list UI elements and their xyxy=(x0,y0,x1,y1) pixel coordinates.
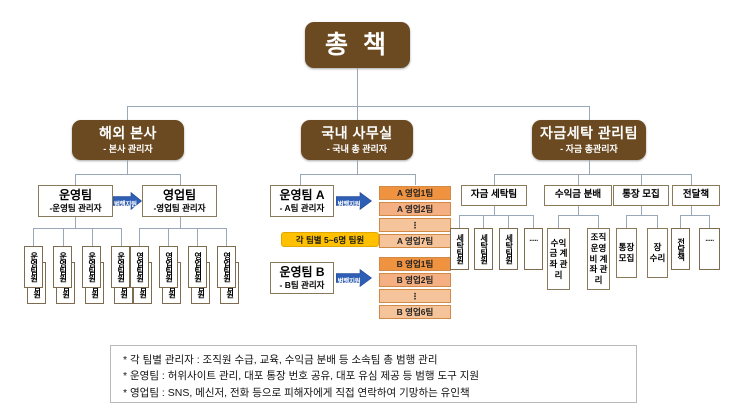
connector-ops-member-drop-2 xyxy=(63,228,64,246)
connector-ops-members-bus xyxy=(33,228,122,229)
member-chip-sales-3: 영업팀원 xyxy=(188,246,207,288)
connector-level2-left-drop xyxy=(127,106,128,120)
node-ops-team-b-title: 운영팀 B xyxy=(279,266,324,280)
member-chip-ops-3: 운영팀원 xyxy=(82,246,101,288)
group-b-sales-2: B 영업2팀 xyxy=(379,273,451,287)
connector-laundering-child-drop-1 xyxy=(459,215,460,228)
member-chip-ops-4: 운영팀원 xyxy=(111,246,130,288)
node-bankbook-repair-child: 장 수리 xyxy=(647,228,668,278)
connector-level2-right-drop xyxy=(589,106,590,120)
connector-profit-child-drop-1 xyxy=(558,215,559,228)
connector-sales-members-bus xyxy=(139,228,227,229)
note-team-size: 각 팀별 5~6명 팀원 xyxy=(281,232,379,247)
connector-domestic-stem xyxy=(357,160,358,174)
connector-sales-member-drop-4 xyxy=(226,228,227,246)
node-ops-team-subtitle: -운영팀 관리자 xyxy=(49,204,101,214)
node-overseas-hq-subtitle: - 본사 관리자 xyxy=(103,144,152,154)
legend-line-1: * 각 팀별 관리자 : 조직원 수급, 교육, 수익금 분배 등 소속팀 총 … xyxy=(123,352,626,368)
connector-laundering-squad-bus xyxy=(459,215,533,216)
member-chip-laundering-1: 세탁팀원 xyxy=(450,228,469,270)
connector-ops-members-stem xyxy=(75,217,76,228)
node-domestic-office-title: 국내 사무실 xyxy=(321,126,392,142)
arrow-right-icon xyxy=(336,269,372,287)
group-b-sales-ellipsis: ⋮ xyxy=(379,289,451,303)
arrow-team-b-support xyxy=(336,269,372,287)
connector-laundering-stem xyxy=(589,160,590,174)
node-laundering-team-subtitle: - 자금 총관리자 xyxy=(560,144,618,154)
node-ops-team-b: 운영팀 B - B팀 관리자 xyxy=(270,262,334,294)
node-domestic-office-subtitle: - 국내 총 관리자 xyxy=(327,144,387,154)
member-chip-laundering-3: 세탁팀원 xyxy=(499,228,518,270)
connector-courier-bus xyxy=(680,215,709,216)
connector-overseas-stem xyxy=(127,160,128,174)
node-overseas-hq-title: 해외 본사 xyxy=(99,126,157,142)
member-chip-laundering-2: 세탁팀원 xyxy=(474,228,493,270)
member-chip-ops-2: 운영팀원 xyxy=(53,246,72,288)
connector-ops-member-drop-3 xyxy=(92,228,93,246)
connector-bankbook-child-drop-1 xyxy=(626,215,627,228)
node-domestic-office: 국내 사무실 - 국내 총 관리자 xyxy=(301,120,413,160)
node-ops-team-a: 운영팀 A - A팀 관리자 xyxy=(270,185,334,217)
legend-line-2: * 운영팀 : 허위사이트 관리, 대포 통장 번호 공유, 대포 유심 제공 … xyxy=(123,368,626,384)
connector-profit-child-drop-2 xyxy=(598,215,599,228)
node-laundering-squad: 자금 세탁팀 xyxy=(461,185,527,206)
node-bankbook-recruit-child: 통장 모집 xyxy=(616,228,637,278)
connector-root-stem xyxy=(357,68,358,106)
member-chip-courier-1: 전달책 xyxy=(671,228,690,270)
connector-ops-member-drop-4 xyxy=(121,228,122,246)
connector-ops-member-drop-1 xyxy=(33,228,34,246)
node-profit-account-mgmt: 수익금 계좌 관리 xyxy=(547,228,570,290)
connector-sales-member-drop-1 xyxy=(139,228,140,246)
group-a-sales-2: A 영업2팀 xyxy=(379,202,451,216)
connector-courier-stem xyxy=(691,206,692,215)
node-courier: 전달책 xyxy=(672,185,720,206)
connector-courier-child-drop-2 xyxy=(709,215,710,228)
connector-overseas-bus xyxy=(75,174,180,175)
group-b-sales-6: B 영업6팀 xyxy=(379,305,451,319)
node-bankbook-recruit-title: 통장 모집 xyxy=(622,190,660,201)
group-a-sales-7: A 영업7팀 xyxy=(379,234,451,248)
member-chip-courier-more: ..... xyxy=(699,228,720,270)
node-profit-distribution-title: 수익금 분배 xyxy=(555,190,601,201)
connector-laundering-child-drop-3 xyxy=(508,215,509,228)
connector-ops-drop xyxy=(75,174,76,185)
connector-level2-bus xyxy=(127,106,589,107)
arrow-right-icon xyxy=(113,192,142,210)
connector-sales-member-drop-2 xyxy=(168,228,169,246)
legend-box: * 각 팀별 관리자 : 조직원 수급, 교육, 수익금 분배 등 소속팀 총 … xyxy=(110,345,637,403)
connector-profit-bus xyxy=(558,215,598,216)
node-sales-team: 영업팀 -영업팀 관리자 xyxy=(142,185,217,217)
connector-courier-child-drop-1 xyxy=(680,215,681,228)
node-ops-team-b-subtitle: - B팀 관리자 xyxy=(280,281,325,291)
node-sales-team-subtitle: -영업팀 관리자 xyxy=(153,204,205,214)
arrow-team-a-support xyxy=(336,192,372,210)
node-laundering-team: 자금세탁 관리팀 - 자금 총관리자 xyxy=(532,120,646,160)
connector-level2-mid-drop xyxy=(357,106,358,120)
connector-sales-drop xyxy=(180,174,181,185)
arrow-right-icon xyxy=(336,192,372,210)
legend-line-3: * 영업팀 : SNS, 메신저, 전화 등으로 피해자에게 직접 연락하여 기… xyxy=(123,385,626,401)
connector-domestic-bus xyxy=(300,174,415,175)
connector-domestic-right-drop xyxy=(415,174,416,185)
member-chip-laundering-more: ..... xyxy=(524,228,543,270)
node-ops-team-title: 운영팀 xyxy=(59,189,92,203)
connector-laundering-child-drop-2 xyxy=(483,215,484,228)
connector-laundering-drop-1 xyxy=(494,174,495,185)
node-ops-team-a-title: 운영팀 A xyxy=(279,189,324,203)
node-operating-cost-account-mgmt: 조직운영비 계좌 관리 xyxy=(587,228,610,290)
connector-laundering-squad-stem xyxy=(494,206,495,215)
node-bankbook-recruit: 통장 모집 xyxy=(613,185,669,206)
connector-sales-member-drop-3 xyxy=(197,228,198,246)
connector-laundering-bus xyxy=(494,174,691,175)
connector-laundering-drop-3 xyxy=(641,174,642,185)
node-overseas-hq: 해외 본사 - 본사 관리자 xyxy=(72,120,184,160)
node-courier-title: 전달책 xyxy=(683,190,709,201)
node-laundering-squad-title: 자금 세탁팀 xyxy=(471,190,517,201)
connector-bankbook-stem xyxy=(641,206,642,215)
connector-laundering-child-drop-4 xyxy=(533,215,534,228)
member-chip-sales-2: 영업팀원 xyxy=(159,246,178,288)
connector-laundering-drop-4 xyxy=(691,174,692,185)
group-a-sales-ellipsis: ⋮ xyxy=(379,218,451,232)
connector-laundering-drop-2 xyxy=(578,174,579,185)
member-chip-sales-4: 영업팀원 xyxy=(217,246,236,288)
root-node-title: 총 책 xyxy=(325,31,390,59)
node-laundering-team-title: 자금세탁 관리팀 xyxy=(540,126,638,142)
connector-bankbook-child-drop-2 xyxy=(657,215,658,228)
group-b-sales-1: B 영업1팀 xyxy=(379,257,451,271)
connector-bankbook-bus xyxy=(626,215,657,216)
node-sales-team-title: 영업팀 xyxy=(163,189,196,203)
member-chip-sales-1: 영업팀원 xyxy=(130,246,149,288)
arrow-overseas-support xyxy=(113,192,142,210)
root-node-chief: 총 책 xyxy=(305,22,410,68)
org-chart-diagram: 총 책 해외 본사 - 본사 관리자 국내 사무실 - 국내 총 관리자 자금세… xyxy=(0,0,730,411)
node-ops-team-a-subtitle: - A팀 관리자 xyxy=(280,204,325,214)
node-profit-distribution: 수익금 분배 xyxy=(544,185,612,206)
group-a-sales-1: A 영업1팀 xyxy=(379,186,451,200)
connector-profit-stem xyxy=(578,206,579,215)
connector-sales-members-stem xyxy=(180,217,181,228)
connector-domestic-left-drop xyxy=(300,174,301,185)
member-chip-ops-1: 운영팀원 xyxy=(24,246,43,288)
node-ops-team: 운영팀 -운영팀 관리자 xyxy=(38,185,113,217)
